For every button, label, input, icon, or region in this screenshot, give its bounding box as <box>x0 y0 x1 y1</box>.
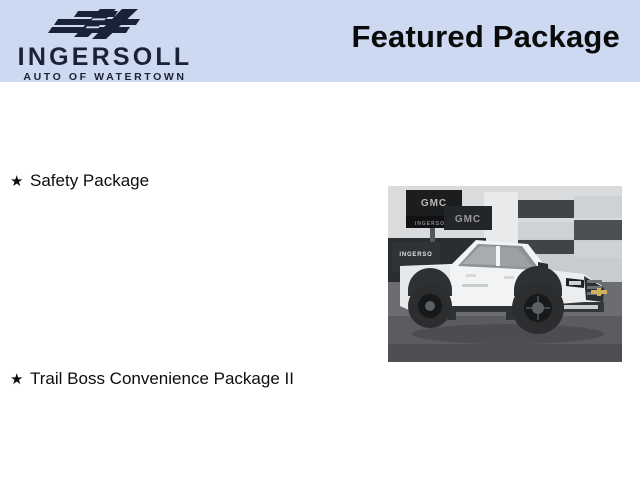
header-band: INGERSOLL AUTO OF WATERTOWN Featured Pac… <box>0 0 640 82</box>
page-title: Featured Package <box>351 19 620 55</box>
package-label: Safety Package <box>30 170 149 192</box>
svg-text:GMC: GMC <box>455 214 481 225</box>
ingersoll-wing-emblem <box>44 6 164 42</box>
svg-text:GMC: GMC <box>421 198 447 209</box>
vehicle-photo: GMC INGERSOLL GMC INGERSO <box>388 186 622 362</box>
list-item: ★ Safety Package <box>10 170 149 192</box>
star-icon: ★ <box>10 172 30 192</box>
star-icon: ★ <box>10 370 30 390</box>
package-label: Trail Boss Convenience Package II <box>30 368 294 390</box>
list-item: ★ Trail Boss Convenience Package II <box>10 368 294 390</box>
dealer-logo: INGERSOLL AUTO OF WATERTOWN <box>0 2 215 82</box>
logo-wordmark: INGERSOLL <box>0 44 210 70</box>
svg-text:INGERSO: INGERSO <box>399 252 432 258</box>
package-list: ★ Safety Package ★ Trail Boss Convenienc… <box>0 82 380 480</box>
